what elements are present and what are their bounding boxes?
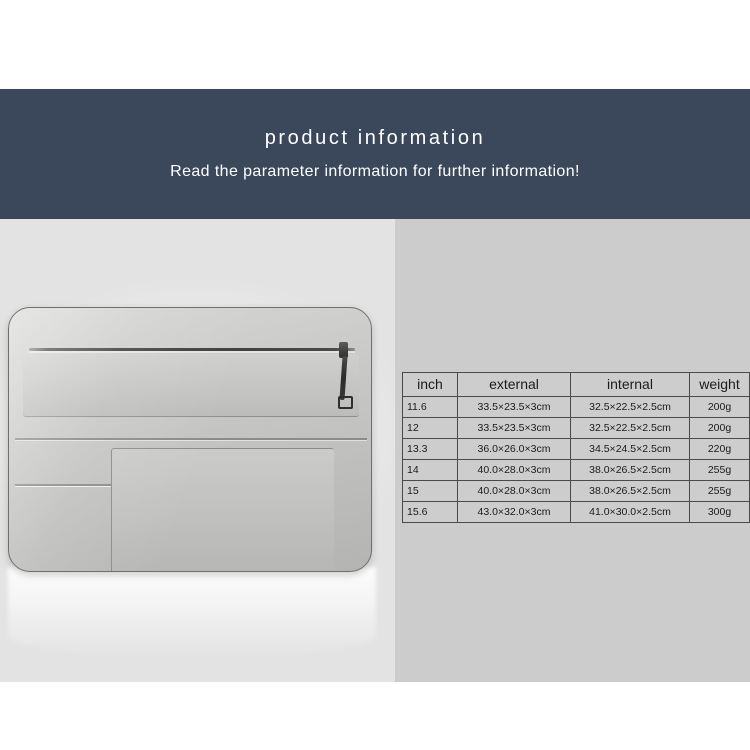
cell-internal: 38.0×26.5×2.5cm	[571, 481, 690, 502]
cell-inch: 15.6	[403, 502, 458, 523]
table-row: 12 33.5×23.5×3cm 32.5×22.5×2.5cm 200g	[403, 418, 750, 439]
front-pocket	[23, 354, 359, 417]
cell-weight: 300g	[690, 502, 750, 523]
cell-inch: 12	[403, 418, 458, 439]
middle-seam	[15, 438, 367, 440]
page-subtitle: Read the parameter information for furth…	[170, 163, 580, 181]
cell-weight: 255g	[690, 460, 750, 481]
table-row: 15.6 43.0×32.0×3cm 41.0×30.0×2.5cm 300g	[403, 502, 750, 523]
photo-reflection	[8, 567, 376, 659]
table-row: 15 40.0×28.0×3cm 38.0×26.5×2.5cm 255g	[403, 481, 750, 502]
page-title: product information	[265, 127, 486, 149]
specification-table: inch external internal weight 11.6 33.5×…	[402, 372, 750, 523]
column-header-internal: internal	[571, 373, 690, 397]
table-row: 13.3 36.0×26.0×3cm 34.5×24.5×2.5cm 220g	[403, 439, 750, 460]
cell-internal: 38.0×26.5×2.5cm	[571, 460, 690, 481]
table-header: inch external internal weight	[403, 373, 750, 397]
cell-inch: 13.3	[403, 439, 458, 460]
cell-external: 33.5×23.5×3cm	[458, 418, 571, 439]
cell-internal: 32.5×22.5×2.5cm	[571, 418, 690, 439]
left-pocket-seam-highlight	[15, 486, 111, 487]
cell-inch: 11.6	[403, 397, 458, 418]
cell-external: 40.0×28.0×3cm	[458, 481, 571, 502]
cell-external: 40.0×28.0×3cm	[458, 460, 571, 481]
lower-pocket	[111, 448, 334, 572]
cell-external: 36.0×26.0×3cm	[458, 439, 571, 460]
banner: product information Read the parameter i…	[0, 89, 750, 219]
cell-weight: 200g	[690, 397, 750, 418]
cell-external: 33.5×23.5×3cm	[458, 397, 571, 418]
table-body: 11.6 33.5×23.5×3cm 32.5×22.5×2.5cm 200g …	[403, 397, 750, 523]
cell-weight: 220g	[690, 439, 750, 460]
zipper-track-icon	[29, 348, 355, 351]
product-information-page: product information Read the parameter i…	[0, 0, 750, 750]
spec-table-panel: inch external internal weight 11.6 33.5×…	[395, 219, 750, 682]
cell-internal: 41.0×30.0×2.5cm	[571, 502, 690, 523]
table-header-row: inch external internal weight	[403, 373, 750, 397]
cell-weight: 255g	[690, 481, 750, 502]
column-header-external: external	[458, 373, 571, 397]
zipper-pull-ring-icon	[338, 396, 353, 409]
column-header-weight: weight	[690, 373, 750, 397]
cell-weight: 200g	[690, 418, 750, 439]
cell-inch: 14	[403, 460, 458, 481]
product-image-panel	[0, 219, 395, 682]
column-header-inch: inch	[403, 373, 458, 397]
cell-internal: 32.5×22.5×2.5cm	[571, 397, 690, 418]
laptop-sleeve-icon	[8, 307, 372, 572]
table-row: 11.6 33.5×23.5×3cm 32.5×22.5×2.5cm 200g	[403, 397, 750, 418]
cell-internal: 34.5×24.5×2.5cm	[571, 439, 690, 460]
product-photo	[0, 219, 395, 682]
cell-inch: 15	[403, 481, 458, 502]
cell-external: 43.0×32.0×3cm	[458, 502, 571, 523]
table-row: 14 40.0×28.0×3cm 38.0×26.5×2.5cm 255g	[403, 460, 750, 481]
